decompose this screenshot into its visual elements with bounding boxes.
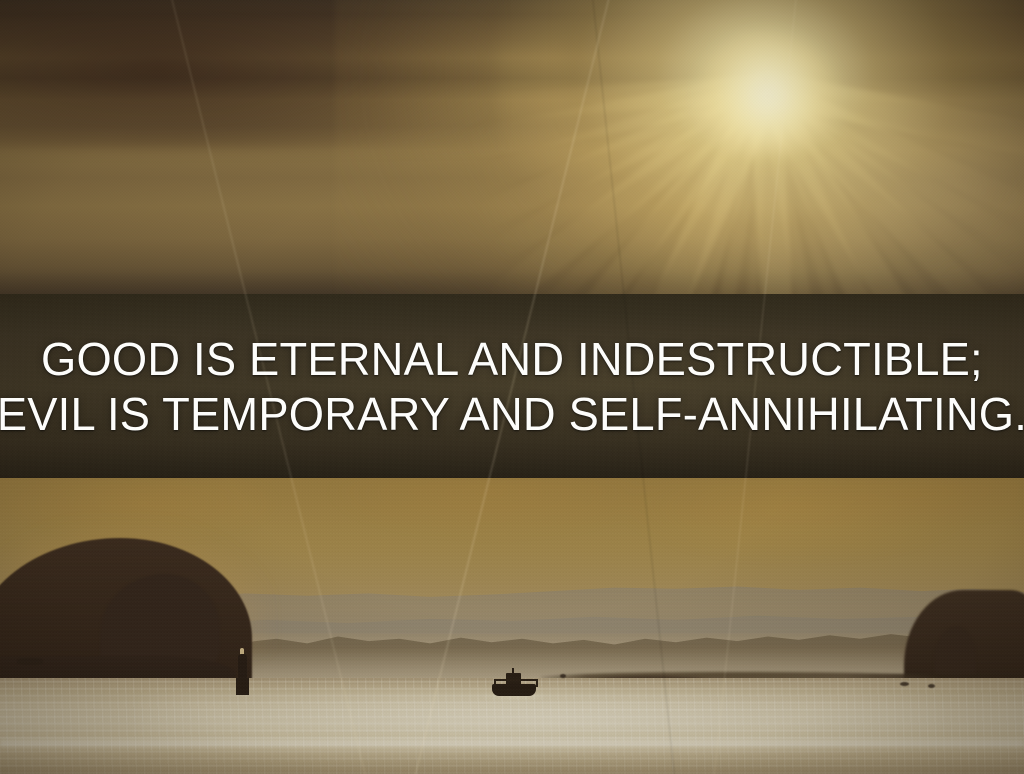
far-object-a — [560, 674, 566, 678]
small-boat — [492, 668, 536, 698]
sun-core-icon — [700, 36, 836, 152]
sky-region — [0, 0, 1024, 296]
water-foreground-shadow — [0, 748, 1024, 774]
channel-marker-post — [236, 648, 249, 696]
quote-text: GOOD IS ETERNAL AND INDESTRUCTIBLE; EVIL… — [0, 332, 1024, 442]
quote-band: GOOD IS ETERNAL AND INDESTRUCTIBLE; EVIL… — [0, 294, 1024, 480]
quote-line-1: GOOD IS ETERNAL AND INDESTRUCTIBLE; — [0, 332, 1024, 387]
boat-hull — [492, 684, 536, 696]
far-object-b — [900, 682, 909, 686]
far-object-c — [928, 684, 935, 688]
far-object-d — [17, 658, 43, 665]
marker-base — [236, 678, 249, 695]
landscape-region — [0, 478, 1024, 774]
quote-line-2: EVIL IS TEMPORARY AND SELF-ANNIHILATING. — [0, 387, 1024, 442]
quote-poster-image: GOOD IS ETERNAL AND INDESTRUCTIBLE; EVIL… — [0, 0, 1024, 774]
